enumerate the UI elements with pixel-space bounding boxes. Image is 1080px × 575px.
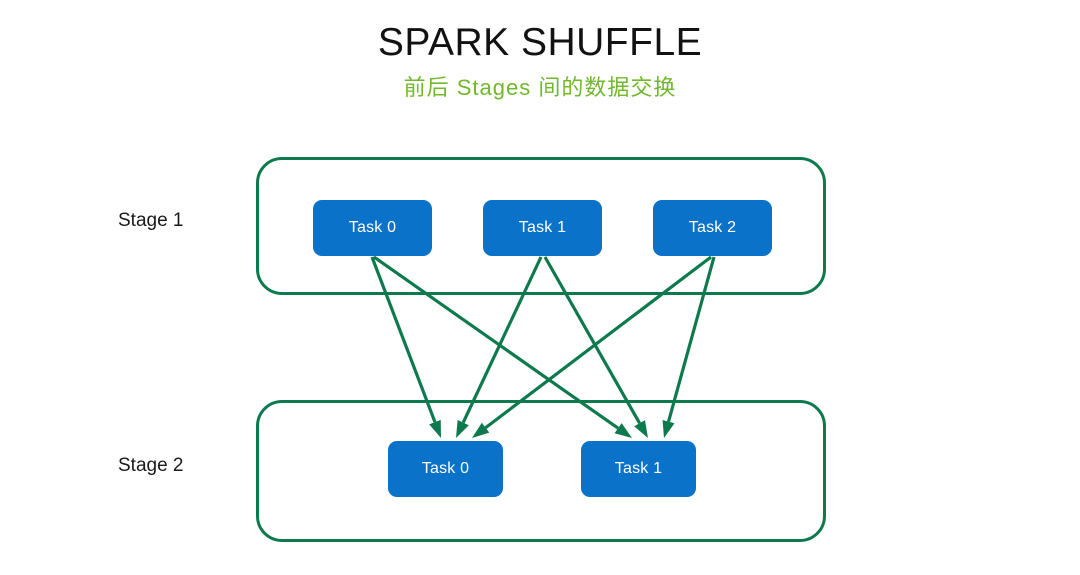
stage-2-task-1[interactable]: Task 1	[581, 441, 696, 497]
page-title: SPARK SHUFFLE	[0, 22, 1080, 65]
stage-1-task-2[interactable]: Task 2	[653, 200, 772, 256]
stage-2-container	[256, 400, 826, 542]
stage-1-task-0[interactable]: Task 0	[313, 200, 432, 256]
stage-1-label: Stage 1	[118, 210, 184, 232]
page-subtitle: 前后 Stages 间的数据交换	[0, 76, 1080, 100]
stage-2-task-0[interactable]: Task 0	[388, 441, 503, 497]
diagram-canvas: SPARK SHUFFLE 前后 Stages 间的数据交换 Stage 1 T…	[0, 0, 1080, 575]
stage-1-task-1[interactable]: Task 1	[483, 200, 602, 256]
stage-2-label: Stage 2	[118, 455, 184, 477]
